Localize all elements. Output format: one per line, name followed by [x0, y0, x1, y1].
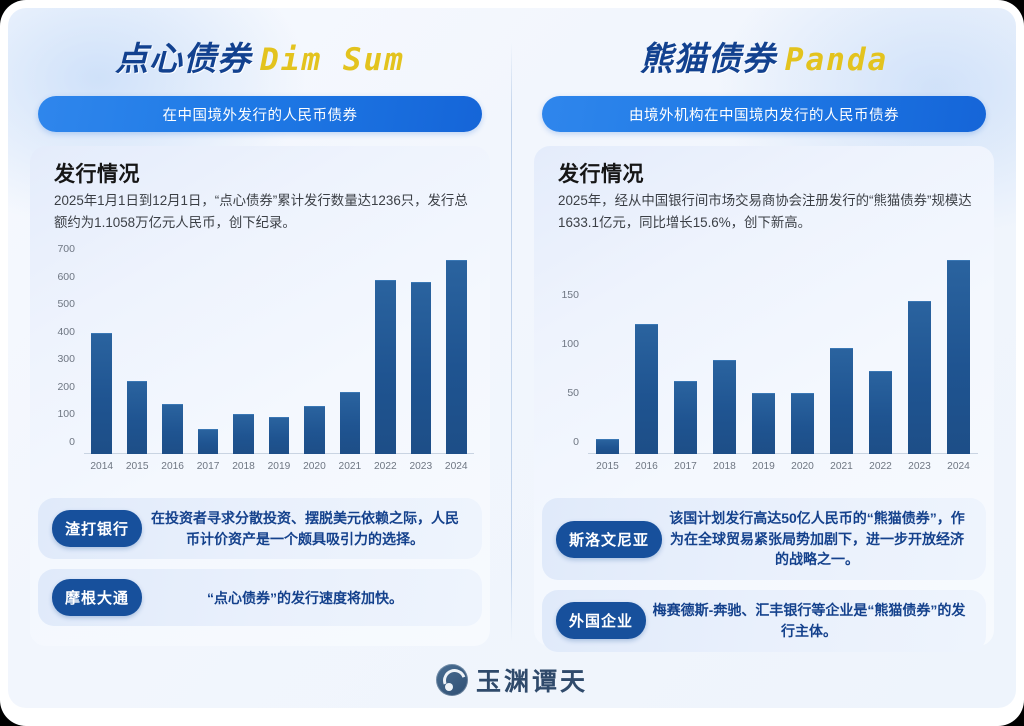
bar-column: 2020	[297, 250, 332, 454]
y-axis-tick-label: 600	[57, 271, 84, 283]
panel-banner: 在中国境外发行的人民币债券	[38, 96, 482, 132]
bar	[411, 282, 432, 454]
bar	[375, 280, 396, 454]
issuance-bar-chart-panda: 2015201620172018201920202021202220232024…	[544, 242, 984, 480]
bar-column: 2015	[119, 250, 154, 454]
y-axis-tick-label: 100	[57, 408, 84, 420]
bar-column: 2023	[403, 250, 438, 454]
section-title: 发行情况	[558, 158, 644, 188]
quote-row: 斯洛文尼亚 该国计划发行高达50亿人民币的“熊猫债券”，作为在全球贸易紧张局势加…	[542, 498, 986, 580]
y-axis-tick-label: 700	[57, 243, 84, 255]
bar	[233, 414, 254, 454]
bar-column: 2022	[368, 250, 403, 454]
x-axis-tick-label: 2023	[908, 461, 931, 472]
issuance-bar-chart-dim-sum: 2014201520162017201820192020202120222023…	[40, 242, 480, 480]
chart-plot-area: 2015201620172018201920202021202220232024…	[588, 250, 978, 454]
x-axis-tick-label: 2022	[374, 461, 397, 472]
bar-column: 2014	[84, 250, 119, 454]
quote-text: 该国计划发行高达50亿人民币的“熊猫债券”，作为在全球贸易紧张局势加剧下，进一步…	[662, 508, 972, 570]
panel-title-en: Dim Sum	[260, 42, 405, 78]
bar	[791, 393, 814, 454]
bar	[127, 381, 148, 454]
panel-title-row: 熊猫债券Panda	[512, 32, 1016, 80]
bar	[162, 404, 183, 454]
bar-column: 2016	[155, 250, 190, 454]
y-axis-tick-label: 150	[561, 289, 588, 301]
y-axis-tick-label: 50	[567, 387, 588, 399]
quote-row: 摩根大通 “点心债券”的发行速度将加快。	[38, 569, 482, 626]
bar	[869, 371, 892, 454]
quote-source-tag: 外国企业	[556, 602, 646, 639]
bar	[198, 429, 219, 454]
bar	[635, 324, 658, 454]
bar-column: 2018	[226, 250, 261, 454]
bar-column: 2019	[744, 250, 783, 454]
quote-list: 渣打银行 在投资者寻求分散投资、摆脱美元依赖之际，人民币计价资产是一个颇具吸引力…	[38, 498, 482, 642]
bar-column: 2015	[588, 250, 627, 454]
bar	[304, 406, 325, 454]
bar-column: 2024	[939, 250, 978, 454]
bar	[91, 333, 112, 454]
quote-text: 梅赛德斯-奔驰、汇丰银行等企业是“熊猫债券”的发行主体。	[646, 600, 972, 641]
bar	[269, 417, 290, 454]
footer-logo: 玉渊谭天	[8, 662, 1016, 698]
x-axis-tick-label: 2022	[869, 461, 892, 472]
panel-title-cn: 点心债券	[115, 40, 251, 77]
panel-title-cn: 熊猫债券	[640, 40, 776, 77]
x-axis-tick-label: 2020	[303, 461, 326, 472]
bar	[596, 439, 619, 454]
bar-column: 2023	[900, 250, 939, 454]
section-body: 2025年1月1日到12月1日，“点心债券”累计发行数量达1236只，发行总额约…	[54, 190, 470, 233]
bar	[713, 360, 736, 454]
bar	[340, 392, 361, 454]
y-axis-tick-label: 500	[57, 298, 84, 310]
quote-source-tag: 斯洛文尼亚	[556, 521, 662, 558]
bar-column: 2018	[705, 250, 744, 454]
bar-column: 2016	[627, 250, 666, 454]
y-axis-tick-label: 0	[69, 436, 84, 448]
bar-column: 2017	[190, 250, 225, 454]
y-axis-tick-label: 200	[57, 381, 84, 393]
x-axis-tick-label: 2019	[268, 461, 291, 472]
panel-card: 发行情况 2025年，经从中国银行间市场交易商协会注册发行的“熊猫债券”规模达1…	[534, 146, 994, 646]
panel-title-en: Panda	[785, 42, 888, 78]
x-axis-tick-label: 2017	[674, 461, 697, 472]
bar-column: 2020	[783, 250, 822, 454]
bar	[947, 260, 970, 454]
quote-text: “点心债券”的发行速度将加快。	[142, 588, 468, 609]
infographic-canvas: 点心债券Dim Sum 在中国境外发行的人民币债券 发行情况 2025年1月1日…	[8, 8, 1016, 708]
quote-row: 外国企业 梅赛德斯-奔驰、汇丰银行等企业是“熊猫债券”的发行主体。	[542, 590, 986, 651]
x-axis-tick-label: 2024	[445, 461, 468, 472]
x-axis-tick-label: 2017	[197, 461, 220, 472]
bar-series: 2015201620172018201920202021202220232024	[588, 250, 978, 454]
bar	[674, 381, 697, 454]
quote-source-tag: 摩根大通	[52, 579, 142, 616]
bar-column: 2021	[332, 250, 367, 454]
y-axis-tick-label: 100	[561, 338, 588, 350]
panel-dim-sum: 点心债券Dim Sum 在中国境外发行的人民币债券 发行情况 2025年1月1日…	[8, 8, 512, 668]
chart-plot-area: 2014201520162017201820192020202120222023…	[84, 250, 474, 454]
quote-text: 在投资者寻求分散投资、摆脱美元依赖之际，人民币计价资产是一个颇具吸引力的选择。	[142, 508, 468, 549]
bar	[908, 301, 931, 454]
y-axis-tick-label: 400	[57, 326, 84, 338]
quote-list: 斯洛文尼亚 该国计划发行高达50亿人民币的“熊猫债券”，作为在全球贸易紧张局势加…	[542, 498, 986, 642]
x-axis-tick-label: 2014	[90, 461, 113, 472]
x-axis-tick-label: 2015	[596, 461, 619, 472]
infographic-frame: 点心债券Dim Sum 在中国境外发行的人民币债券 发行情况 2025年1月1日…	[0, 0, 1024, 726]
bar	[446, 260, 467, 454]
x-axis-tick-label: 2019	[752, 461, 775, 472]
quote-row: 渣打银行 在投资者寻求分散投资、摆脱美元依赖之际，人民币计价资产是一个颇具吸引力…	[38, 498, 482, 559]
bar-column: 2024	[439, 250, 474, 454]
wave-circle-logo-icon	[436, 664, 468, 696]
x-axis-tick-label: 2016	[161, 461, 184, 472]
bar-column: 2017	[666, 250, 705, 454]
x-axis-tick-label: 2021	[339, 461, 362, 472]
y-axis-tick-label: 300	[57, 353, 84, 365]
bar	[752, 393, 775, 454]
x-axis-tick-label: 2018	[232, 461, 255, 472]
quote-source-tag: 渣打银行	[52, 510, 142, 547]
x-axis-tick-label: 2018	[713, 461, 736, 472]
bar-column: 2022	[861, 250, 900, 454]
bar-column: 2019	[261, 250, 296, 454]
panel-panda: 熊猫债券Panda 由境外机构在中国境内发行的人民币债券 发行情况 2025年，…	[512, 8, 1016, 668]
y-axis-tick-label: 0	[573, 436, 588, 448]
panel-banner: 由境外机构在中国境内发行的人民币债券	[542, 96, 986, 132]
bar	[830, 348, 853, 454]
panel-title-row: 点心债券Dim Sum	[8, 32, 512, 80]
logo-text: 玉渊谭天	[476, 662, 588, 698]
section-title: 发行情况	[54, 158, 140, 188]
section-body: 2025年，经从中国银行间市场交易商协会注册发行的“熊猫债券”规模达1633.1…	[558, 190, 974, 233]
bar-series: 2014201520162017201820192020202120222023…	[84, 250, 474, 454]
x-axis-tick-label: 2023	[409, 461, 432, 472]
x-axis-tick-label: 2024	[947, 461, 970, 472]
bar-column: 2021	[822, 250, 861, 454]
x-axis-tick-label: 2015	[126, 461, 149, 472]
x-axis-tick-label: 2021	[830, 461, 853, 472]
x-axis-tick-label: 2020	[791, 461, 814, 472]
panel-card: 发行情况 2025年1月1日到12月1日，“点心债券”累计发行数量达1236只，…	[30, 146, 490, 646]
x-axis-tick-label: 2016	[635, 461, 658, 472]
